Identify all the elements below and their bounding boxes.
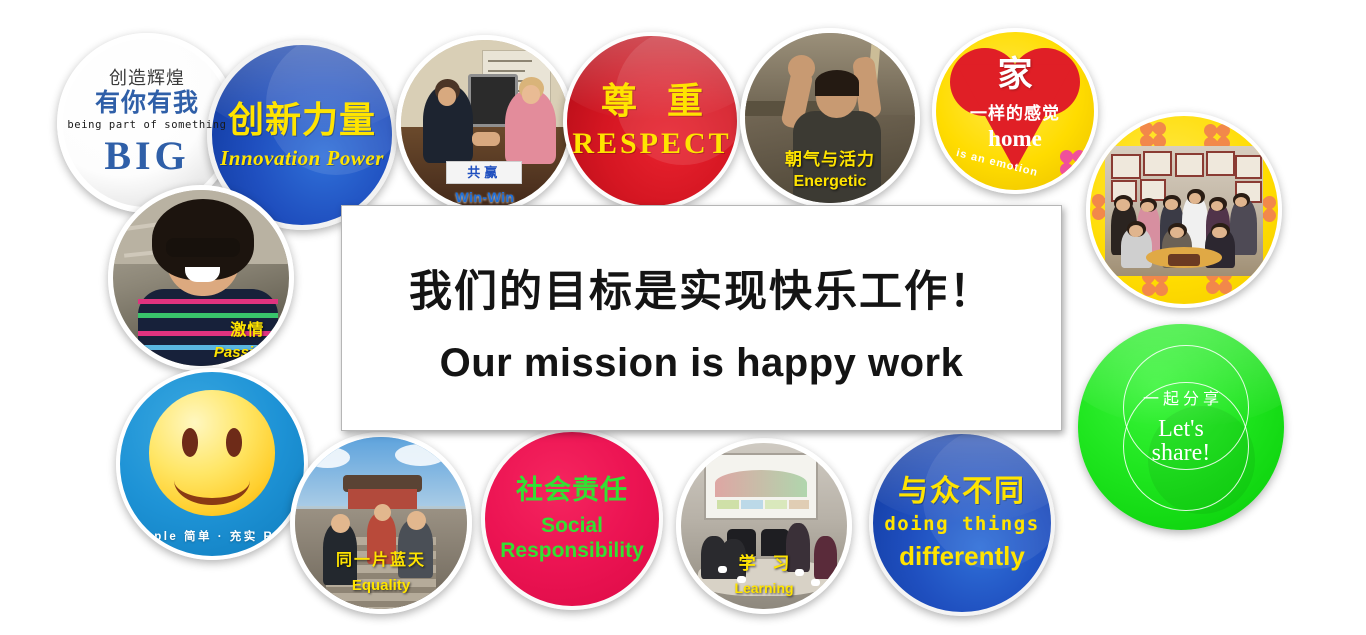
badge-equality-en: Equality	[295, 578, 467, 594]
mission-banner-zh: 我们的目标是实现快乐工作！	[409, 257, 994, 319]
badge-big-line1: 创造辉煌	[63, 69, 231, 88]
smiling-mouth	[185, 267, 220, 281]
badge-respect-en: RESPECT	[567, 128, 737, 160]
badge-home-zh2: 一样的感觉	[936, 105, 1094, 123]
badge-share-zh: 一起分享	[1078, 392, 1284, 409]
values-poster: 创造辉煌 有你有我 being part of something BIG 创新…	[0, 0, 1366, 635]
sunglasses-icon	[166, 238, 240, 257]
badge-home-zh1: 家	[936, 57, 1094, 94]
badge-innovation-zh: 创新力量	[212, 101, 392, 139]
badge-learning-en: Learning	[681, 581, 847, 596]
badge-passion-photo[interactable]: 激情 Passion	[108, 185, 294, 371]
badge-learning-photo[interactable]: 学 习 Learning	[676, 438, 852, 614]
group-celebration-photo	[1105, 146, 1263, 276]
badge-passion-zh: 激情	[230, 323, 264, 340]
badge-share-en2: share!	[1078, 441, 1284, 466]
flower-icon	[1060, 150, 1086, 176]
badge-respect-zh: 尊 重	[567, 82, 737, 120]
badge-smile-arc-text: Simple 简单 · 充实 Rich	[120, 531, 304, 543]
badge-energetic-photo[interactable]: 朝气与活力 Energetic	[740, 28, 920, 208]
badge-share-en1: Let's	[1078, 417, 1284, 442]
badge-lets-share[interactable]: 一起分享 Let's share!	[1078, 324, 1284, 530]
badge-win-win-photo[interactable]: 共赢 Win-Win	[396, 35, 574, 213]
badge-energetic-zh: 朝气与活力	[745, 151, 915, 169]
badge-doing-things-differently[interactable]: 与众不同 doing things differently	[869, 430, 1055, 616]
badge-social-en2: Responsibility	[485, 540, 659, 562]
flower-icon	[1140, 122, 1166, 148]
badge-winwin-en: Win-Win	[401, 190, 569, 205]
win-win-name-plate: 共赢	[446, 161, 522, 185]
badge-big-line4: BIG	[63, 135, 231, 177]
badge-different-zh: 与众不同	[873, 476, 1051, 508]
badge-home-is-an-emotion[interactable]: 家 一样的感觉 home is an emotion	[932, 28, 1098, 194]
presentation-screen	[704, 453, 818, 520]
mission-banner-en: Our mission is happy work	[440, 341, 964, 386]
badge-different-en2: differently	[873, 543, 1051, 570]
badge-passion-en: Passion	[214, 345, 272, 361]
birthday-cake	[1168, 254, 1200, 266]
badge-equality-zh: 同一片蓝天	[295, 553, 467, 570]
badge-respect[interactable]: 尊 重 RESPECT	[563, 32, 741, 210]
badge-team-photo[interactable]	[1086, 112, 1282, 308]
badge-simple-rich[interactable]: Simple 简单 · 充实 Rich	[116, 368, 308, 560]
badge-big-line3: being part of something	[63, 120, 231, 131]
badge-different-en1: doing things	[873, 515, 1051, 535]
badge-big-line2: 有你有我	[63, 90, 231, 116]
badge-innovation-en: Innovation Power	[212, 147, 392, 169]
badge-energetic-en: Energetic	[745, 174, 915, 191]
badge-equality-photo[interactable]: 同一片蓝天 Equality	[290, 432, 472, 614]
ok-hand-gesture	[788, 55, 815, 81]
badge-social-responsibility[interactable]: 社会责任 Social Responsibility	[481, 428, 663, 610]
badge-winwin-zh: 共赢	[467, 166, 501, 180]
mission-banner: 我们的目标是实现快乐工作！ Our mission is happy work	[341, 205, 1062, 431]
badge-social-zh: 社会责任	[485, 476, 659, 504]
badge-learning-zh: 学 习	[681, 555, 847, 573]
badge-social-en1: Social	[485, 515, 659, 537]
smiley-face-icon	[149, 390, 274, 515]
